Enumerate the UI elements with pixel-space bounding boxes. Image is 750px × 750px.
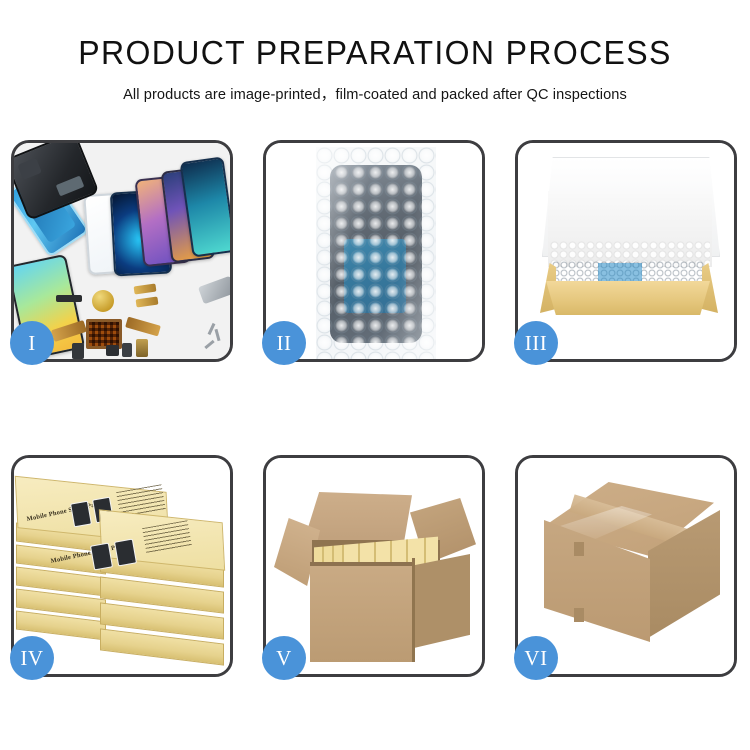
carton-flap-back bbox=[304, 492, 412, 546]
step-badge-2: II bbox=[262, 321, 306, 365]
carton-front-panel bbox=[310, 566, 414, 662]
phone-thumbnail-icon bbox=[70, 501, 92, 528]
process-step-panel-5: V bbox=[263, 455, 485, 677]
sensor-module-icon bbox=[122, 343, 132, 357]
vibration-motor-icon bbox=[92, 290, 114, 312]
header: PRODUCT PREPARATION PROCESS All products… bbox=[0, 36, 750, 104]
process-step-panel-4: Mobile Phone Spare Parts Mobile Phone Sp… bbox=[11, 455, 233, 677]
step-badge-1: I bbox=[10, 321, 54, 365]
product-preparation-process-page: PRODUCT PREPARATION PROCESS All products… bbox=[0, 0, 750, 750]
carton-vertical-edge bbox=[412, 558, 415, 662]
phone-thumbnail-icon bbox=[114, 539, 137, 567]
repair-tool-icon bbox=[198, 276, 230, 305]
page-subtitle: All products are image-printed，film-coat… bbox=[0, 83, 750, 104]
screw-icon bbox=[214, 329, 220, 341]
step-badge-4: IV bbox=[10, 636, 54, 680]
step-badge-5: V bbox=[262, 636, 306, 680]
flex-cable-right-icon bbox=[125, 317, 161, 337]
plastic-gloss-overlay bbox=[316, 147, 436, 359]
speaker-module-icon bbox=[106, 345, 119, 356]
step-badge-3: III bbox=[514, 321, 558, 365]
phone-thumbnail-icon bbox=[90, 543, 113, 571]
process-step-panel-6: VI bbox=[515, 455, 737, 677]
power-button-icon bbox=[136, 297, 159, 308]
step-badge-6: VI bbox=[514, 636, 558, 680]
battery-icon bbox=[136, 339, 148, 357]
process-step-panel-3: III bbox=[515, 140, 737, 362]
carton-seam-mark bbox=[574, 608, 584, 622]
volume-button-icon bbox=[134, 284, 157, 295]
process-steps-grid: I II bbox=[11, 140, 739, 677]
process-step-panel-2: II bbox=[263, 140, 485, 362]
carton-side-panel bbox=[414, 554, 470, 648]
carton-seam-mark bbox=[574, 542, 584, 556]
earpiece-speaker-icon bbox=[56, 295, 82, 302]
process-step-panel-1: I bbox=[11, 140, 233, 362]
page-title: PRODUCT PREPARATION PROCESS bbox=[11, 36, 739, 71]
mailer-box-front-panel bbox=[546, 281, 710, 315]
camera-module-icon bbox=[72, 343, 84, 359]
screw-icon bbox=[204, 340, 214, 349]
